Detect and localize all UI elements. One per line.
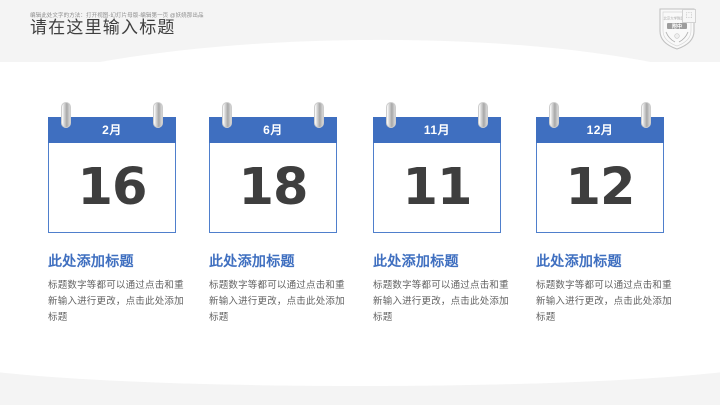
binder-ring-icon: [478, 102, 488, 128]
text-block[interactable]: 此处添加标题 标题数字等都可以通过点击和重新输入进行更改，点击此处添加标题: [209, 252, 359, 326]
text-block[interactable]: 此处添加标题 标题数字等都可以通过点击和重新输入进行更改，点击此处添加标题: [48, 252, 198, 326]
binder-ring-icon: [61, 102, 71, 128]
calendar-card-body: 16: [48, 143, 176, 233]
calendar-card-body: 18: [209, 143, 337, 233]
binder-ring-icon: [222, 102, 232, 128]
calendar-card[interactable]: 11月 11: [373, 112, 501, 237]
calendar-day-number: 16: [78, 162, 147, 214]
binder-ring-icon: [314, 102, 324, 128]
block-title: 此处添加标题: [536, 252, 686, 270]
slide-footer: [0, 372, 720, 405]
binder-ring-icon: [386, 102, 396, 128]
footer-curve-divider: [0, 372, 720, 386]
slide-canvas: 请在这里输入标题 北京大学附属中学 附中 2月 16: [0, 0, 720, 405]
header-curve-divider: [0, 36, 720, 62]
binder-ring-icon: [153, 102, 163, 128]
calendar-day-number: 12: [566, 162, 635, 214]
block-title: 此处添加标题: [48, 252, 198, 270]
small-box-icon[interactable]: ⬚: [682, 9, 696, 23]
calendar-card[interactable]: 2月 16: [48, 112, 176, 237]
text-blocks-row: 此处添加标题 标题数字等都可以通过点击和重新输入进行更改，点击此处添加标题 此处…: [0, 252, 720, 352]
calendar-month-label: 12月: [587, 123, 614, 137]
block-description: 标题数字等都可以通过点击和重新输入进行更改，点击此处添加标题: [536, 278, 678, 326]
block-description: 标题数字等都可以通过点击和重新输入进行更改，点击此处添加标题: [48, 278, 190, 326]
calendar-cards-row: 2月 16 6月 18 11月 11: [0, 104, 720, 244]
calendar-card-body: 12: [536, 143, 664, 233]
text-block[interactable]: 此处添加标题 标题数字等都可以通过点击和重新输入进行更改，点击此处添加标题: [373, 252, 523, 326]
footer-badge-label: ⬚: [686, 12, 693, 20]
text-block[interactable]: 此处添加标题 标题数字等都可以通过点击和重新输入进行更改，点击此处添加标题: [536, 252, 686, 326]
block-title: 此处添加标题: [373, 252, 523, 270]
calendar-card[interactable]: 12月 12: [536, 112, 664, 237]
block-description: 标题数字等都可以通过点击和重新输入进行更改，点击此处添加标题: [209, 278, 351, 326]
block-title: 此处添加标题: [209, 252, 359, 270]
calendar-month-label: 11月: [424, 123, 450, 137]
block-description: 标题数字等都可以通过点击和重新输入进行更改，点击此处添加标题: [373, 278, 515, 326]
binder-ring-icon: [549, 102, 559, 128]
calendar-card[interactable]: 6月 18: [209, 112, 337, 237]
svg-text:附中: 附中: [672, 23, 682, 30]
calendar-day-number: 11: [403, 162, 472, 214]
binder-ring-icon: [641, 102, 651, 128]
calendar-day-number: 18: [239, 162, 308, 214]
footer-note: 编辑此处文字的方法：打开视图-幻灯片母版-编辑第一页 @妖娆那出品: [30, 12, 204, 20]
calendar-card-body: 11: [373, 143, 501, 233]
calendar-month-label: 6月: [263, 123, 283, 137]
page-title: 请在这里输入标题: [30, 17, 176, 39]
calendar-month-label: 2月: [102, 123, 122, 137]
